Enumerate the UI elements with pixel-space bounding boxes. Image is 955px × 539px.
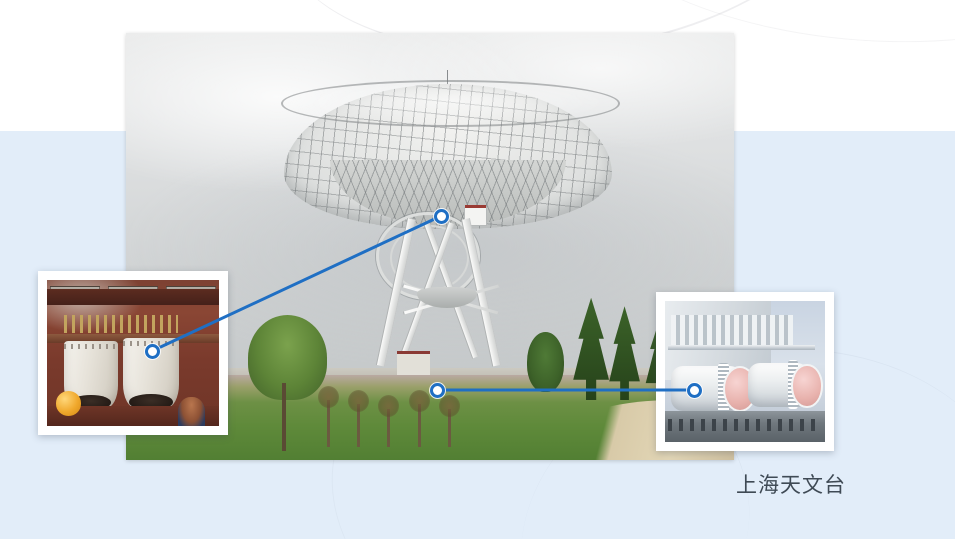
gear-teeth	[64, 315, 178, 333]
photo-caption: 上海天文台	[736, 469, 846, 499]
callout-photo-right[interactable]	[656, 292, 834, 451]
willow-tree	[248, 315, 327, 400]
yellow-sphere	[56, 391, 82, 416]
parabolic-dish	[284, 84, 612, 229]
sapling	[327, 400, 330, 447]
dish-rim	[281, 80, 620, 128]
callout-photo-left[interactable]	[38, 271, 228, 435]
steel-beam	[47, 289, 219, 305]
cooling-fins	[671, 315, 793, 346]
sapling	[448, 409, 451, 447]
sapling	[418, 404, 421, 447]
telescope-mount	[369, 212, 527, 383]
marker-callout-left[interactable]	[145, 344, 160, 359]
callout-left-image	[47, 280, 219, 426]
sapling	[357, 404, 360, 447]
round-tree	[527, 332, 563, 392]
marker-callout-right[interactable]	[687, 383, 702, 398]
support-rail	[668, 345, 815, 351]
pink-end-cap	[791, 364, 822, 407]
worker-figure	[178, 397, 206, 426]
callout-right-image	[665, 301, 825, 442]
presentation-slide: 上海天文台	[0, 0, 955, 539]
marker-dish-hub[interactable]	[434, 209, 449, 224]
sapling	[387, 409, 390, 447]
anchor-bolts	[668, 419, 822, 430]
marker-base[interactable]	[430, 383, 445, 398]
tree-trunk	[282, 383, 286, 451]
